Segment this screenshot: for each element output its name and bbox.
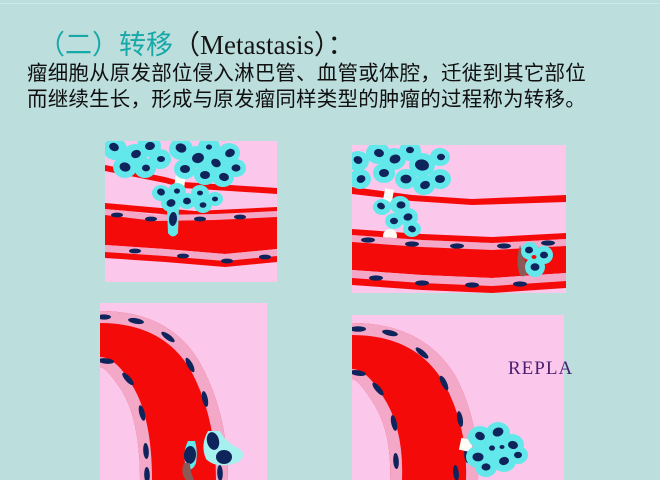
illustration-panel-bottom-left [100, 303, 267, 480]
vessel-entry-diagram [352, 145, 566, 293]
title-english: （Metastasis）： [173, 30, 355, 60]
body-line-1: 瘤细胞从原发部位侵入淋巴管、血管或体腔，迁徙到其它部位 [27, 62, 639, 88]
illustration-panel-bottom-right [352, 315, 564, 480]
curved-vessel-diagram-left [100, 303, 267, 480]
body-line-2: 而继续生长，形成与原发瘤同样类型的肿瘤的过程称为转移。 [27, 88, 639, 114]
lymphatic-invasion-diagram [105, 141, 277, 282]
slide-top-border [0, 3, 660, 4]
slide-canvas: （二）转移（Metastasis）： 瘤细胞从原发部位侵入淋巴管、血管或体腔，迁… [0, 0, 660, 480]
curved-vessel-diagram-right [352, 315, 564, 480]
illustration-panel-top-left [105, 141, 277, 282]
illustration-panel-top-right [352, 145, 566, 293]
body-paragraph: 瘤细胞从原发部位侵入淋巴管、血管或体腔，迁徙到其它部位 而继续生长，形成与原发瘤… [27, 62, 639, 113]
repla-watermark-text: REPLA [508, 358, 573, 380]
title-chinese: （二）转移 [38, 30, 173, 60]
page-title: （二）转移（Metastasis）： [38, 28, 355, 62]
